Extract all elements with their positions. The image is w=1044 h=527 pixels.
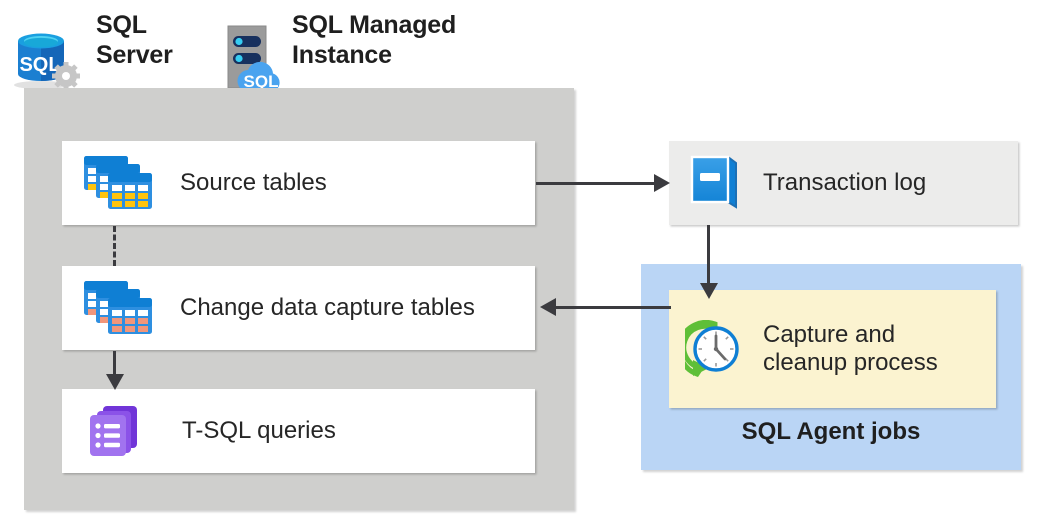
capture-cleanup-process-label: Capture and cleanup process [763, 321, 938, 376]
source-tables-icon [78, 154, 158, 212]
tsql-queries-icon [78, 402, 158, 460]
connector-cdc-to-tsql-arrowhead [106, 374, 124, 390]
sql-server-label: SQL Server [96, 10, 173, 70]
transaction-log-label: Transaction log [763, 169, 926, 197]
tsql-queries-box[interactable]: T-SQL queries [62, 389, 535, 473]
connector-log-to-capture-arrowhead [700, 283, 718, 299]
sql-managed-instance-label: SQL Managed Instance [292, 10, 456, 70]
connector-source-to-log-arrowhead [654, 174, 670, 192]
source-tables-label: Source tables [180, 169, 327, 197]
change-data-capture-tables-box[interactable]: Change data capture tables [62, 266, 535, 350]
change-data-capture-tables-icon [78, 279, 158, 337]
clock-refresh-icon [683, 320, 745, 378]
tsql-queries-label: T-SQL queries [182, 417, 336, 445]
sql-managed-instance-icon: SQL [222, 22, 290, 97]
connector-source-to-log [536, 182, 656, 185]
transaction-log-book-icon [683, 153, 745, 213]
transaction-log-box[interactable]: Transaction log [669, 141, 1018, 225]
sql-server-icon: SQL [10, 22, 82, 97]
connector-source-to-cdc-dashed [113, 226, 116, 266]
connector-capture-to-cdc [556, 306, 671, 309]
connector-log-to-capture [707, 225, 710, 287]
capture-cleanup-process-box[interactable]: Capture and cleanup process [669, 290, 996, 408]
source-tables-box[interactable]: Source tables [62, 141, 535, 225]
change-data-capture-tables-label: Change data capture tables [180, 294, 475, 322]
sql-agent-jobs-caption: SQL Agent jobs [641, 418, 1021, 446]
svg-text:SQL: SQL [19, 54, 60, 76]
connector-capture-to-cdc-arrowhead [540, 298, 556, 316]
